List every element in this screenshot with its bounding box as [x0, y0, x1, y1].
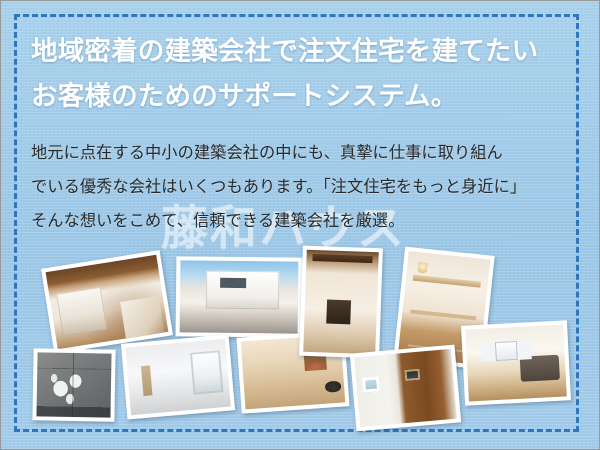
photo-kitchen-dining[interactable]: [41, 250, 173, 354]
photo-hallway-living-image: [303, 250, 379, 354]
photo-hallway-living[interactable]: [299, 246, 383, 359]
banner-body-copy: 地元に点在する中小の建築会社の中にも、真摯に仕事に取り組ん でいる優秀な会社はい…: [31, 136, 571, 238]
headline-line-1: 地域密着の建築会社で注文住宅を建てたい: [31, 29, 571, 74]
photo-kitchen-dining-image: [46, 255, 169, 350]
photo-handprint-floor-image: [36, 352, 111, 417]
photo-living-room[interactable]: [461, 320, 571, 405]
body-line-3: そんな想いをこめて、信頼できる建築会社を厳選。: [31, 204, 571, 238]
promo-banner[interactable]: 藤和ハウス 地域密着の建築会社で注文住宅を建てたい お客様のためのサポートシステ…: [0, 0, 600, 450]
photo-white-room-image: [125, 339, 231, 415]
body-line-2: でいる優秀な会社はいくつもあります。「注文住宅をもっと身近に」: [31, 170, 571, 204]
photo-living-room-image: [465, 324, 567, 401]
photo-handprint-floor[interactable]: [32, 348, 115, 421]
photo-wooden-door-image: [354, 349, 457, 427]
photo-house-exterior[interactable]: [176, 256, 303, 337]
banner-text-block: 地域密着の建築会社で注文住宅を建てたい お客様のためのサポートシステム。 地元に…: [31, 29, 571, 238]
banner-headline: 地域密着の建築会社で注文住宅を建てたい お客様のためのサポートシステム。: [31, 29, 571, 119]
photo-house-exterior-image: [180, 260, 299, 333]
headline-line-2: お客様のためのサポートシステム。: [31, 74, 571, 119]
body-line-1: 地元に点在する中小の建築会社の中にも、真摯に仕事に取り組ん: [31, 136, 571, 170]
photo-wooden-door[interactable]: [350, 345, 461, 432]
photo-white-room[interactable]: [121, 334, 235, 419]
